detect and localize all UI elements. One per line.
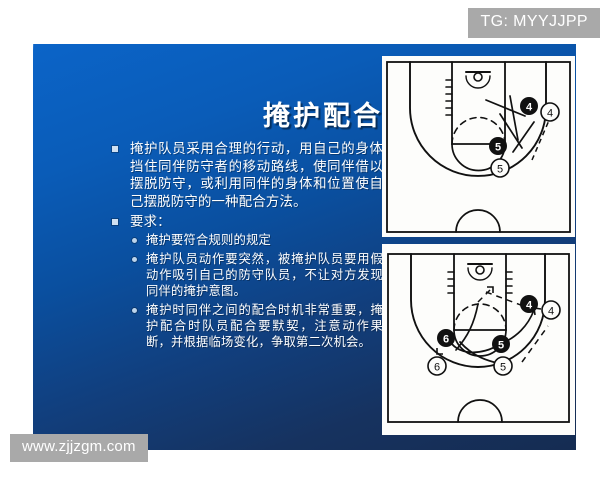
screen-play-diagram-top: 4 5 4 5 [382, 56, 575, 237]
website-watermark-badge: www.zjjzgm.com [10, 434, 148, 462]
svg-text:6: 6 [434, 362, 440, 374]
bullet-item-definition: 掩护队员采用合理的行动，用自己的身体挡住同伴防守者的移动路线，使同伴借以摆脱防守… [111, 140, 383, 211]
slide-body: 掩护队员采用合理的行动，用自己的身体挡住同伴防守者的移动路线，使同伴借以摆脱防守… [111, 140, 383, 351]
square-bullet-icon [112, 146, 118, 152]
dot-bullet-icon [132, 238, 137, 243]
svg-text:5: 5 [498, 340, 504, 352]
list-item: 掩护要符合规则的规定 [131, 233, 383, 249]
svg-text:5: 5 [500, 362, 506, 374]
svg-text:4: 4 [526, 102, 533, 114]
presentation-slide: 掩护配合 掩护队员采用合理的行动，用自己的身体挡住同伴防守者的移动路线，使同伴借… [33, 44, 576, 450]
dot-bullet-icon [132, 257, 137, 262]
page-title: 掩护配合 [73, 102, 383, 132]
list-item: 掩护时同伴之间的配合时机非常重要，掩护配合时队员配合要默契，注意动作果断，并根据… [131, 303, 383, 351]
page-canvas: 掩护配合 掩护队员采用合理的行动，用自己的身体挡住同伴防守者的移动路线，使同伴借… [0, 0, 600, 480]
svg-text:4: 4 [548, 306, 554, 318]
bullet-text: 掩护队员采用合理的行动，用自己的身体挡住同伴防守者的移动路线，使同伴借以摆脱防守… [130, 140, 383, 211]
square-bullet-icon [112, 219, 118, 225]
svg-text:4: 4 [526, 300, 533, 312]
bullet-item-requirements: 要求： [111, 213, 383, 231]
telegram-watermark-badge: TG: MYYJJPP [468, 8, 600, 38]
requirement-text: 掩护队员动作要突然，被掩护队员要用假动作吸引自己的防守队员，不让对方发现同伴的掩… [146, 252, 383, 300]
svg-text:4: 4 [547, 108, 553, 120]
screen-play-diagram-bottom: 6 5 4 6 5 4 [382, 244, 575, 435]
svg-text:6: 6 [443, 334, 449, 346]
requirement-text: 掩护要符合规则的规定 [146, 233, 383, 249]
bullet-text: 要求： [130, 213, 383, 231]
dot-bullet-icon [132, 308, 137, 313]
requirement-text: 掩护时同伴之间的配合时机非常重要，掩护配合时队员配合要默契，注意动作果断，并根据… [146, 303, 383, 351]
list-item: 掩护队员动作要突然，被掩护队员要用假动作吸引自己的防守队员，不让对方发现同伴的掩… [131, 252, 383, 300]
svg-text:5: 5 [497, 164, 503, 176]
svg-text:5: 5 [495, 142, 501, 154]
requirements-list: 掩护要符合规则的规定 掩护队员动作要突然，被掩护队员要用假动作吸引自己的防守队员… [111, 233, 383, 351]
